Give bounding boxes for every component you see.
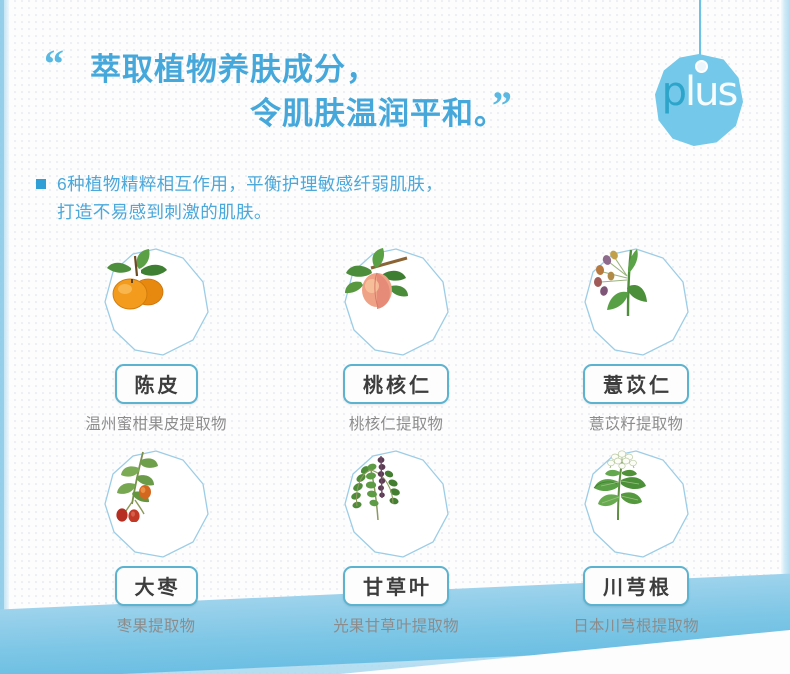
ingredient-name: 川芎根 xyxy=(583,566,689,606)
subtitle-line-1: 6种植物精粹相互作用，平衡护理敏感纤弱肌肤， xyxy=(57,170,443,198)
page-title: 萃取植物养肤成分， 令肌肤温润平和。 xyxy=(90,48,510,136)
hanging-tag: plus xyxy=(655,0,745,150)
ingredient-card[interactable]: 甘草叶 光果甘草叶提取物 xyxy=(276,448,516,636)
ingredient-caption: 日本川芎根提取物 xyxy=(573,614,699,636)
tag-string-icon xyxy=(699,0,701,60)
ingredient-caption: 桃核仁提取物 xyxy=(349,412,443,434)
peach-icon xyxy=(341,246,415,320)
tag-label: plus xyxy=(655,72,743,112)
tag-label-lus: lus xyxy=(685,69,736,115)
ingredient-frame xyxy=(581,448,691,560)
quote-open-icon: “ xyxy=(44,44,62,84)
ingredient-frame xyxy=(581,246,691,358)
subtitle-line-2: 打造不易感到刺激的肌肤。 xyxy=(57,198,443,226)
licorice-leaf-icon xyxy=(341,448,415,522)
ingredient-caption: 枣果提取物 xyxy=(117,614,196,636)
ingredient-infographic-page: “ 萃取植物养肤成分， 令肌肤温润平和。 ” 6种植物精粹相互作用，平衡护理敏感… xyxy=(0,0,790,674)
tangerine-icon xyxy=(101,246,175,320)
jujube-icon xyxy=(101,448,175,522)
ingredient-card[interactable]: 桃核仁 桃核仁提取物 xyxy=(276,246,516,434)
ingredient-caption: 光果甘草叶提取物 xyxy=(333,614,459,636)
ingredient-name: 薏苡仁 xyxy=(583,364,689,404)
ingredient-frame xyxy=(341,448,451,560)
page-title-line-1: 萃取植物养肤成分， xyxy=(90,48,510,92)
ingredient-name: 陈皮 xyxy=(115,364,198,404)
ingredient-card[interactable]: 陈皮 温州蜜柑果皮提取物 xyxy=(36,246,276,434)
cnidium-root-icon xyxy=(581,448,655,522)
quote-close-icon: ” xyxy=(492,86,510,126)
ingredient-card[interactable]: 大枣 枣果提取物 xyxy=(36,448,276,636)
job-tears-icon xyxy=(581,246,655,320)
ingredient-card[interactable]: 川芎根 日本川芎根提取物 xyxy=(516,448,756,636)
ingredient-frame xyxy=(341,246,451,358)
ingredient-caption: 薏苡籽提取物 xyxy=(589,412,683,434)
tag-label-p: p xyxy=(662,69,685,115)
bullet-square-icon xyxy=(36,179,46,189)
ingredient-name: 大枣 xyxy=(115,566,198,606)
subtitle-bullet: 6种植物精粹相互作用，平衡护理敏感纤弱肌肤， 打造不易感到刺激的肌肤。 xyxy=(36,170,636,227)
ingredient-name: 甘草叶 xyxy=(343,566,449,606)
ingredient-caption: 温州蜜柑果皮提取物 xyxy=(85,412,226,434)
ingredient-grid: 陈皮 温州蜜柑果皮提取物 xyxy=(36,246,756,636)
ingredient-frame xyxy=(101,246,211,358)
ingredient-name: 桃核仁 xyxy=(343,364,449,404)
subtitle-text: 6种植物精粹相互作用，平衡护理敏感纤弱肌肤， 打造不易感到刺激的肌肤。 xyxy=(57,170,443,227)
left-edge-accent xyxy=(0,0,4,674)
page-title-line-2: 令肌肤温润平和。 xyxy=(90,92,510,136)
ingredient-card[interactable]: 薏苡仁 薏苡籽提取物 xyxy=(516,246,756,434)
ingredient-frame xyxy=(101,448,211,560)
